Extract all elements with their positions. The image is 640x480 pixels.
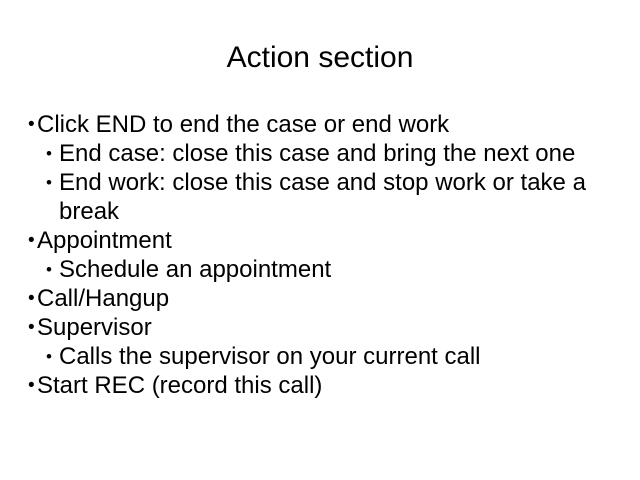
list-item: • Schedule an appointment [46, 255, 612, 284]
bullet-dot-icon: • [28, 313, 37, 342]
bullet-dot-icon: • [46, 255, 59, 284]
bullet-dot-icon: • [28, 110, 37, 139]
slide-canvas: Action section • Click END to end the ca… [0, 0, 640, 480]
bullet-dot-icon: • [46, 168, 59, 197]
bullet-dot-icon: • [28, 284, 37, 313]
list-item: • Calls the supervisor on your current c… [46, 342, 612, 371]
list-item-label: Appointment [37, 226, 612, 255]
bullet-dot-icon: • [28, 371, 37, 400]
bullet-dot-icon: • [28, 226, 37, 255]
list-item: • Start REC (record this call) [28, 371, 612, 400]
list-item: • Click END to end the case or end work [28, 110, 612, 139]
list-item-label: Supervisor [37, 313, 612, 342]
list-item-label: Start REC (record this call) [37, 371, 612, 400]
list-item-label: End work: close this case and stop work … [59, 168, 612, 226]
bullet-dot-icon: • [46, 139, 59, 168]
bullet-dot-icon: • [46, 342, 59, 371]
list-item: • Call/Hangup [28, 284, 612, 313]
list-item-label: End case: close this case and bring the … [59, 139, 612, 168]
list-item-label: Calls the supervisor on your current cal… [59, 342, 612, 371]
list-item: • Supervisor [28, 313, 612, 342]
list-item: • Appointment [28, 226, 612, 255]
list-item: • End work: close this case and stop wor… [46, 168, 612, 226]
list-item-label: Schedule an appointment [59, 255, 612, 284]
bullet-list: • Click END to end the case or end work … [28, 110, 612, 400]
list-item-label: Call/Hangup [37, 284, 612, 313]
list-item: • End case: close this case and bring th… [46, 139, 612, 168]
list-item-label: Click END to end the case or end work [37, 110, 612, 139]
page-title: Action section [0, 40, 640, 76]
